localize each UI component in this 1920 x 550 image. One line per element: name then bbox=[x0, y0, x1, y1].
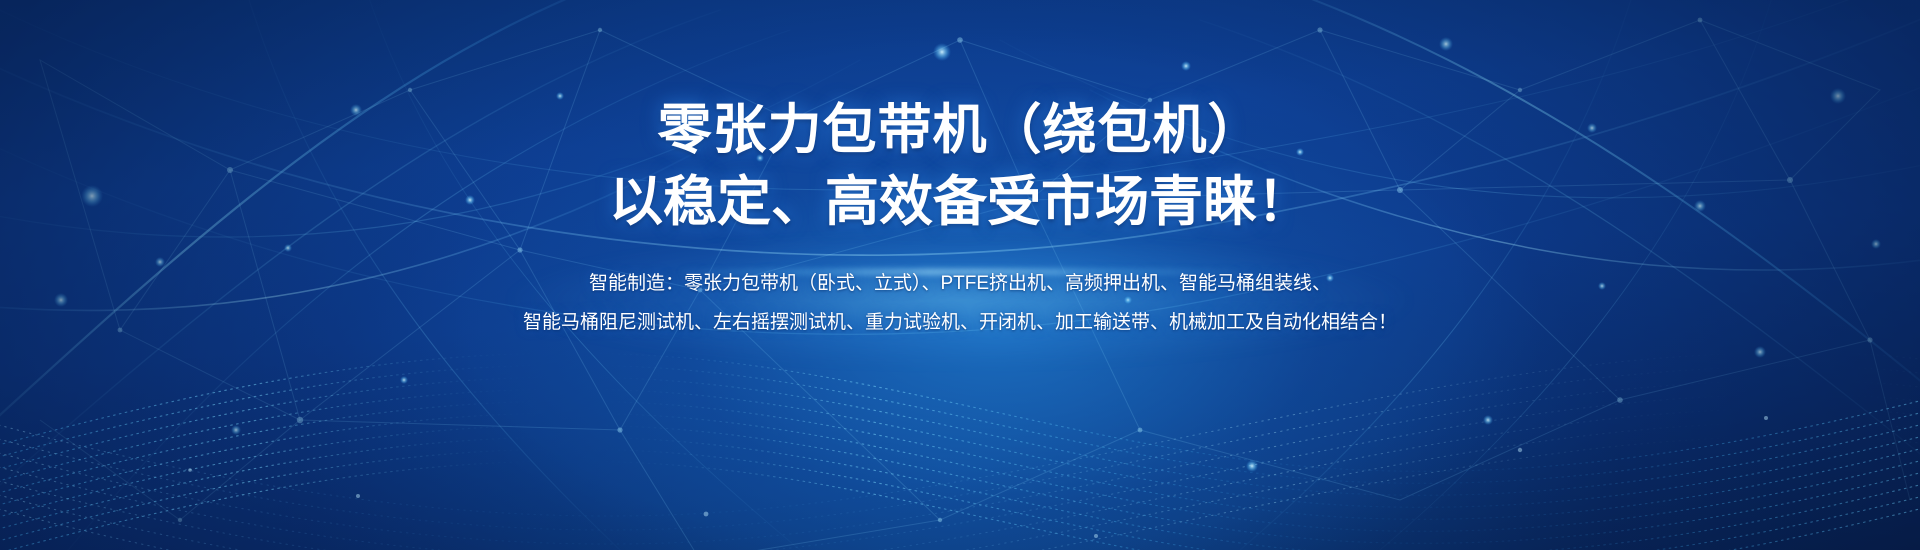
banner-content: 零张力包带机（绕包机） 以稳定、高效备受市场青睐！ 智能制造：零张力包带机（卧式… bbox=[0, 0, 1920, 550]
headline-line-1: 零张力包带机（绕包机） bbox=[609, 95, 1311, 167]
banner-subtitle: 智能制造：零张力包带机（卧式、立式）、PTFE挤出机、高频押出机、智能马桶组装线… bbox=[523, 265, 1397, 343]
headline-line-2: 以稳定、高效备受市场青睐！ bbox=[609, 167, 1311, 239]
subtitle-line-2: 智能马桶阻尼测试机、左右摇摆测试机、重力试验机、开闭机、加工输送带、机械加工及自… bbox=[523, 304, 1397, 343]
banner-headline: 零张力包带机（绕包机） 以稳定、高效备受市场青睐！ bbox=[609, 95, 1311, 239]
subtitle-line-1: 智能制造：零张力包带机（卧式、立式）、PTFE挤出机、高频押出机、智能马桶组装线… bbox=[523, 265, 1397, 304]
hero-banner: 零张力包带机（绕包机） 以稳定、高效备受市场青睐！ 智能制造：零张力包带机（卧式… bbox=[0, 0, 1920, 550]
